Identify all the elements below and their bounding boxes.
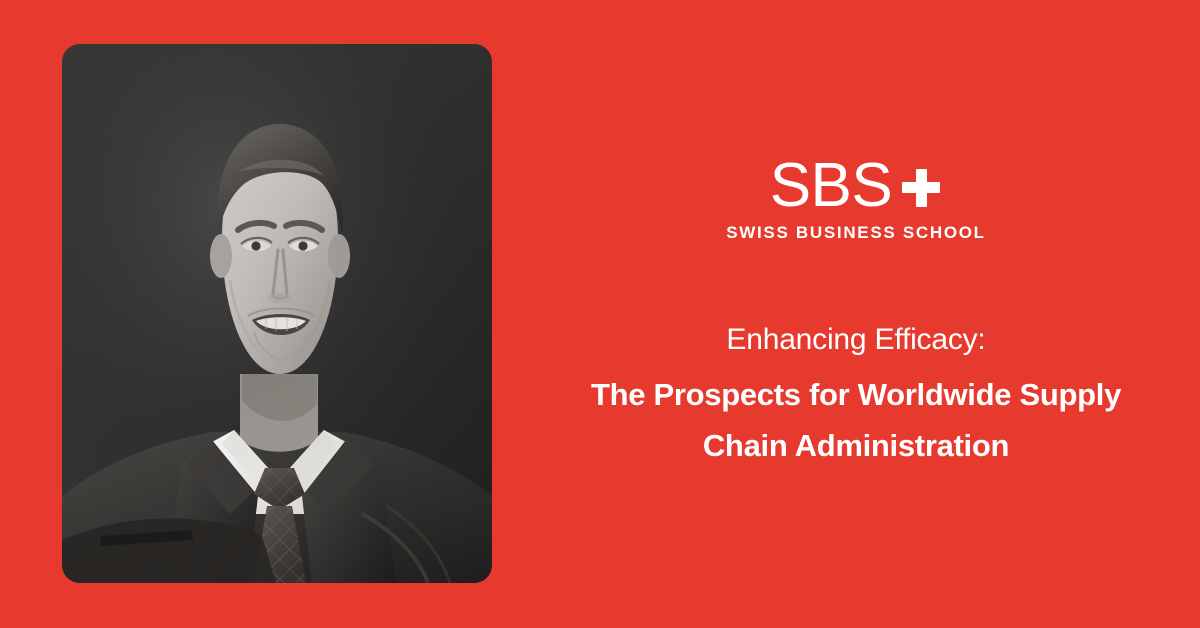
headline-title-line-1: The Prospects for Worldwide Supply (536, 370, 1176, 420)
headline-title: The Prospects for Worldwide Supply Chain… (536, 370, 1176, 470)
swiss-cross-icon (900, 167, 942, 209)
article-banner: SBS SWISS BUSINESS SCHOOL Enhancing Effi… (0, 0, 1200, 628)
logo-wordmark: SBS (770, 157, 893, 214)
banner-content: SBS SWISS BUSINESS SCHOOL Enhancing Effi… (512, 0, 1200, 628)
logo-mark: SBS (770, 157, 943, 214)
logo-tagline: SWISS BUSINESS SCHOOL (726, 223, 986, 243)
speaker-portrait (62, 44, 492, 583)
article-headline: Enhancing Efficacy: The Prospects for Wo… (536, 317, 1176, 470)
headline-title-line-2: Chain Administration (536, 421, 1176, 471)
sbs-logo: SBS SWISS BUSINESS SCHOOL (726, 157, 986, 243)
headline-kicker: Enhancing Efficacy: (536, 317, 1176, 362)
portrait-image (62, 44, 492, 583)
